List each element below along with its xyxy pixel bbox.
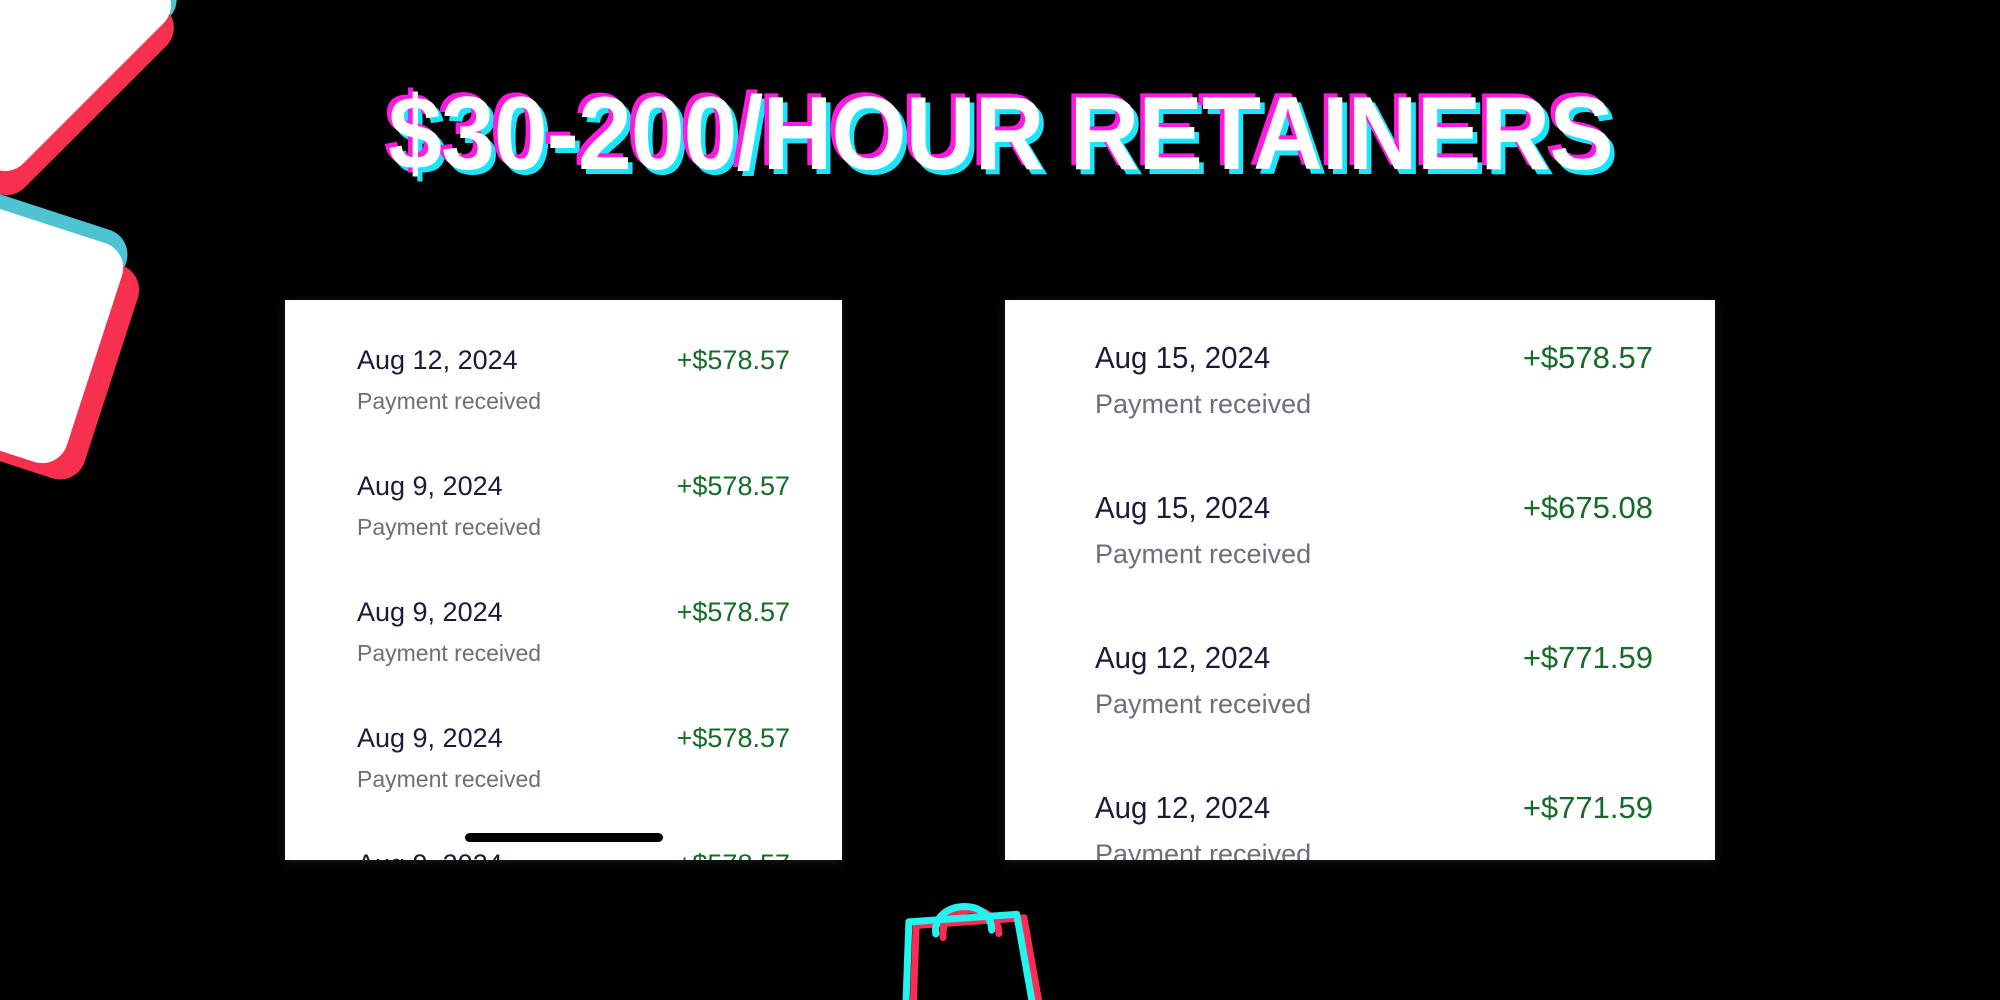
transaction-subtitle: Payment received	[357, 388, 790, 415]
transaction-amount: +$771.59	[1523, 790, 1653, 826]
payments-card-right: Aug 15, 2024 +$578.57 Payment received A…	[1005, 300, 1715, 860]
decor-cyan-layer	[0, 164, 134, 470]
list-item[interactable]: Aug 9, 2024 +$578.57 Payment received	[285, 471, 842, 541]
transaction-list-right: Aug 15, 2024 +$578.57 Payment received A…	[1005, 300, 1715, 860]
transaction-subtitle: Payment received	[1095, 389, 1653, 420]
transaction-header: Aug 9, 2024 +$578.57	[357, 471, 790, 502]
home-indicator-bar[interactable]	[465, 833, 663, 842]
transaction-amount: +$578.57	[1523, 340, 1653, 376]
transaction-header: Aug 12, 2024 +$771.59	[1095, 790, 1653, 826]
headline-container: $30-200/HOUR RETAINERS	[0, 78, 2000, 190]
transaction-amount: +$578.57	[677, 849, 790, 860]
transaction-subtitle: Payment received	[1095, 539, 1653, 570]
list-item[interactable]: Aug 9, 2024 +$578.57 Payment received	[285, 849, 842, 860]
transaction-amount: +$578.57	[677, 597, 790, 628]
transaction-date: Aug 9, 2024	[357, 723, 503, 754]
transaction-subtitle: Payment received	[1095, 839, 1653, 860]
transaction-list-left: Payment received Aug 12, 2024 +$578.57 P…	[285, 300, 842, 860]
list-item[interactable]: Aug 15, 2024 +$578.57 Payment received	[1005, 340, 1715, 420]
transaction-amount: +$771.59	[1523, 640, 1653, 676]
transaction-header: Aug 12, 2024 +$771.59	[1095, 640, 1653, 676]
transaction-amount: +$578.57	[677, 471, 790, 502]
transaction-subtitle: Payment received	[357, 766, 790, 793]
transaction-amount: +$675.08	[1523, 490, 1653, 526]
decor-white-layer	[0, 180, 130, 470]
list-item[interactable]: Aug 12, 2024 +$578.57 Payment received	[285, 345, 842, 415]
list-item[interactable]: Aug 9, 2024 +$578.57 Payment received	[285, 597, 842, 667]
transaction-amount: +$578.57	[677, 345, 790, 376]
list-item[interactable]: Aug 15, 2024 +$675.08 Payment received	[1005, 490, 1715, 570]
transaction-date: Aug 9, 2024	[357, 597, 503, 628]
transaction-header: Aug 9, 2024 +$578.57	[357, 723, 790, 754]
transaction-subtitle: Payment received	[357, 514, 790, 541]
transaction-amount: +$578.57	[677, 723, 790, 754]
decor-red-layer	[0, 200, 146, 487]
payments-card-left: Payment received Aug 12, 2024 +$578.57 P…	[285, 300, 842, 860]
decor-shape-bottom-left	[0, 180, 130, 470]
transaction-date: Aug 15, 2024	[1095, 490, 1270, 526]
transaction-date: Aug 12, 2024	[1095, 790, 1270, 826]
list-item[interactable]: Aug 12, 2024 +$771.59 Payment received	[1005, 640, 1715, 720]
transaction-date: Aug 12, 2024	[1095, 640, 1270, 676]
transaction-header: Aug 15, 2024 +$675.08	[1095, 490, 1653, 526]
transaction-date: Aug 9, 2024	[357, 471, 503, 502]
transaction-subtitle: Payment received	[357, 640, 790, 667]
list-item[interactable]: Aug 12, 2024 +$771.59 Payment received	[1005, 790, 1715, 860]
transaction-header: Aug 12, 2024 +$578.57	[357, 345, 790, 376]
slide-canvas: $30-200/HOUR RETAINERS Payment received …	[0, 0, 2000, 1000]
transaction-header: Aug 9, 2024 +$578.57	[357, 849, 790, 860]
transaction-header: Aug 15, 2024 +$578.57	[1095, 340, 1653, 376]
list-item[interactable]: Aug 9, 2024 +$578.57 Payment received	[285, 723, 842, 793]
shopping-bag-icon	[865, 880, 1065, 1000]
transaction-subtitle: Payment received	[1095, 689, 1653, 720]
transaction-date: Aug 15, 2024	[1095, 340, 1270, 376]
transaction-date: Aug 12, 2024	[357, 345, 518, 376]
transaction-date: Aug 9, 2024	[357, 849, 503, 860]
page-title: $30-200/HOUR RETAINERS	[388, 78, 1613, 190]
transaction-header: Aug 9, 2024 +$578.57	[357, 597, 790, 628]
